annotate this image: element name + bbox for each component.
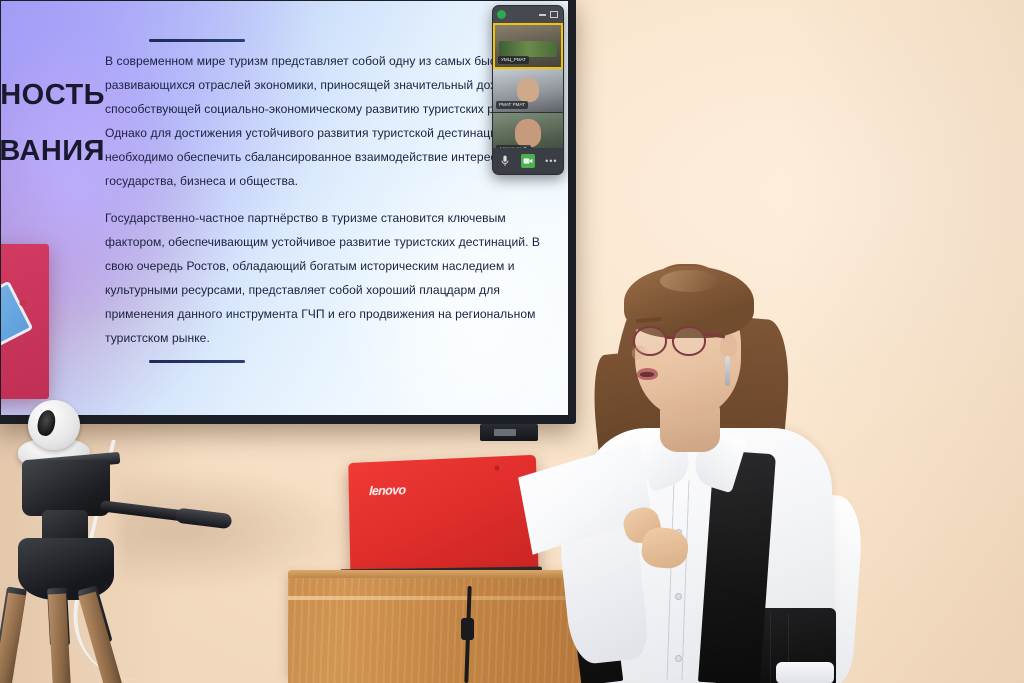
video-call-titlebar[interactable] [493, 6, 563, 23]
video-call-window[interactable]: УМЦ_РМАТ РМАТ РМАТ Александр Ф. [492, 5, 564, 175]
laptop-lid-dot-icon [494, 466, 499, 471]
presenter [520, 258, 900, 683]
recording-indicator-icon [497, 10, 506, 19]
laptop-lid[interactable]: lenovo [348, 455, 538, 581]
slide-body-text: В современном мире туризм представляет с… [105, 49, 555, 350]
shirt-button-2 [676, 594, 681, 599]
more-options-icon[interactable]: ••• [544, 154, 558, 168]
participant-label-1: УМЦ_РМАТ [498, 56, 529, 64]
tripod-head[interactable] [22, 460, 110, 516]
laptop-cable-clip [461, 618, 474, 640]
presenter-hair-highlight [660, 270, 718, 292]
participant-tile-2[interactable]: РМАТ РМАТ [493, 69, 563, 113]
slide-paragraph-2: Государственно-частное партнёрство в тур… [105, 206, 555, 351]
tripod-leg-2 [48, 594, 72, 683]
slide-paragraph-1: В современном мире туризм представляет с… [105, 49, 555, 194]
slide-divider-bottom [149, 360, 245, 363]
lenovo-brand-logo: lenovo [369, 482, 406, 498]
presenter-nose [632, 346, 647, 360]
camera-icon[interactable] [521, 154, 535, 168]
camera-tripod [0, 398, 250, 683]
participant-label-2: РМАТ РМАТ [496, 101, 528, 109]
glasses-bridge [666, 336, 675, 339]
minimize-icon[interactable] [539, 14, 546, 16]
presenter-mouth-inner [640, 372, 654, 377]
slide-divider-top [149, 39, 245, 42]
glasses-lens-right [672, 326, 706, 356]
video-call-controls[interactable]: ••• [493, 148, 563, 174]
participant-tile-1[interactable]: УМЦ_РМАТ [493, 23, 563, 69]
maximize-icon[interactable] [550, 11, 558, 18]
microphone-icon[interactable] [498, 154, 512, 168]
vest-pleat-3 [770, 614, 771, 683]
slide-accent-card [0, 244, 49, 399]
wall-mounted-tv: НОСТЬ ВАНИЯ В современном мире туризм пр… [0, 0, 576, 424]
shirt-button-3 [676, 656, 681, 661]
tablet-graphic [0, 281, 33, 362]
slide-title-line-1: НОСТЬ [0, 67, 105, 123]
tv-bezel: НОСТЬ ВАНИЯ В современном мире туризм пр… [0, 0, 576, 424]
slide-title: НОСТЬ ВАНИЯ [0, 67, 105, 179]
earring-icon [725, 356, 730, 386]
slide-title-line-2: ВАНИЯ [0, 123, 105, 179]
more-options-glyph: ••• [545, 157, 557, 166]
presenter-cuff [776, 662, 834, 683]
presentation-slide: НОСТЬ ВАНИЯ В современном мире туризм пр… [1, 1, 568, 415]
